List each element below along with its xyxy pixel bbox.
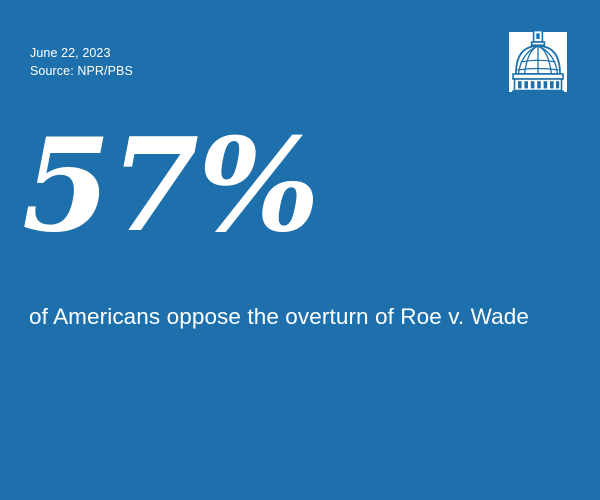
source-label: Source: NPR/PBS (30, 62, 133, 80)
stat-card: June 22, 2023 Source: NPR/PBS (0, 0, 600, 500)
publish-date: June 22, 2023 (30, 44, 133, 62)
stat-description: of Americans oppose the overturn of Roe … (29, 301, 544, 333)
meta-block: June 22, 2023 Source: NPR/PBS (30, 44, 133, 80)
stat-value: 57% (22, 122, 319, 250)
capitol-dome-logo (507, 20, 569, 94)
